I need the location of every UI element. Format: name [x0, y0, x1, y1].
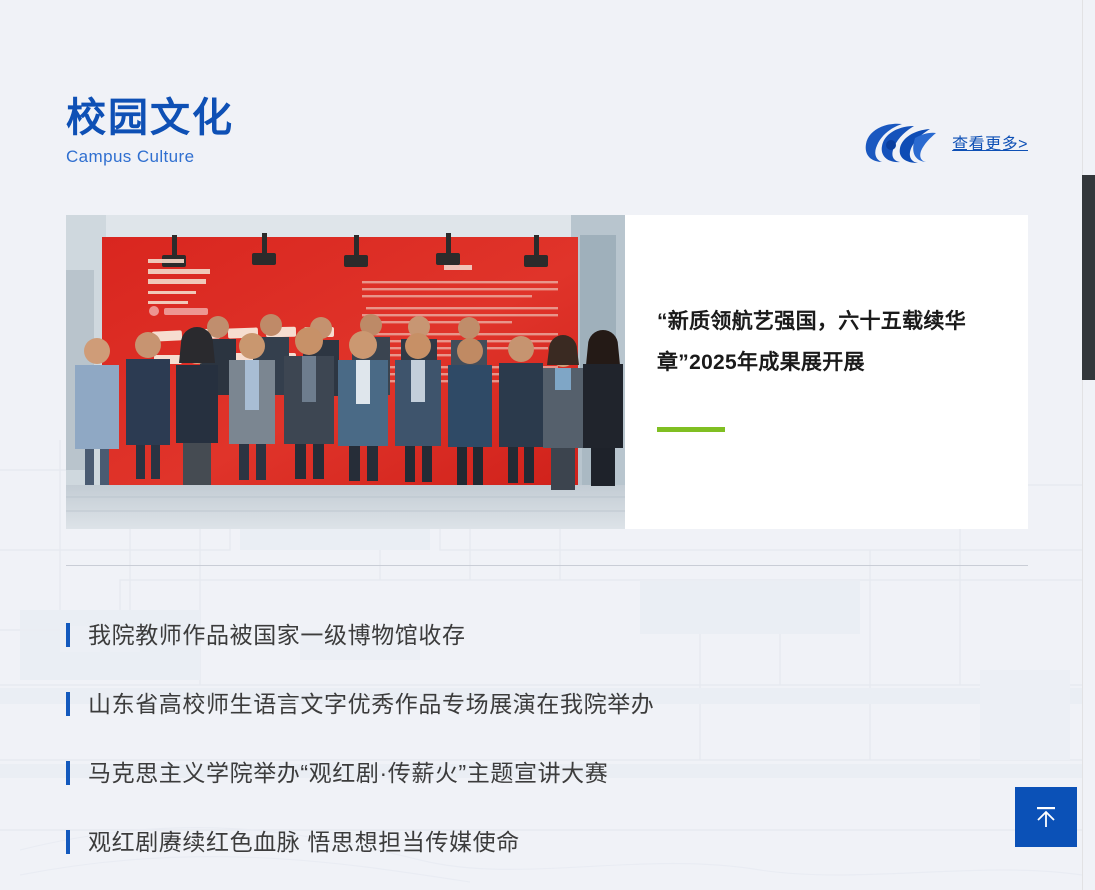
- section-header: 校园文化 Campus Culture 查看更多>: [66, 92, 1028, 172]
- swirl-logo-icon: [860, 120, 938, 164]
- view-more-link[interactable]: 查看更多>: [952, 130, 1028, 154]
- news-list: 我院教师作品被国家一级博物馆收存 山东省高校师生语言文字优秀作品专场展演在我院举…: [66, 600, 1028, 876]
- page-subtitle: Campus Culture: [66, 145, 234, 169]
- news-title: 山东省高校师生语言文字优秀作品专场展演在我院举办: [88, 689, 654, 719]
- bullet-bar-icon: [66, 692, 70, 716]
- featured-article-title: “新质领航艺强国，六十五载续华章”2025年成果展开展: [657, 301, 984, 383]
- bullet-bar-icon: [66, 623, 70, 647]
- page-title: 校园文化: [66, 92, 234, 144]
- news-title: 马克思主义学院举办“观红剧·传薪火”主题宣讲大赛: [88, 758, 608, 788]
- list-item[interactable]: 观红剧赓续红色血脉 悟思想担当传媒使命: [66, 807, 1028, 876]
- news-title: 观红剧赓续红色血脉 悟思想担当传媒使命: [88, 827, 520, 857]
- arrow-up-to-line-icon: [1031, 802, 1061, 832]
- scrollbar-thumb[interactable]: [1082, 175, 1095, 380]
- featured-article-card[interactable]: “新质领航艺强国，六十五载续华章”2025年成果展开展: [66, 215, 1028, 529]
- featured-article-image[interactable]: [66, 215, 625, 529]
- featured-accent-rule: [657, 427, 725, 432]
- list-item[interactable]: 山东省高校师生语言文字优秀作品专场展演在我院举办: [66, 669, 1028, 738]
- news-title: 我院教师作品被国家一级博物馆收存: [88, 620, 466, 650]
- featured-article-text: “新质领航艺强国，六十五载续华章”2025年成果展开展: [625, 215, 1028, 529]
- back-to-top-button[interactable]: [1015, 787, 1077, 847]
- header-right-group: 查看更多>: [860, 120, 1028, 164]
- campus-culture-page: 校园文化 Campus Culture 查看更多>: [0, 0, 1082, 890]
- list-item[interactable]: 我院教师作品被国家一级博物馆收存: [66, 600, 1028, 669]
- section-title-group: 校园文化 Campus Culture: [66, 92, 234, 169]
- bullet-bar-icon: [66, 830, 70, 854]
- scrollbar-track[interactable]: [1082, 0, 1095, 890]
- bullet-bar-icon: [66, 761, 70, 785]
- list-item[interactable]: 马克思主义学院举办“观红剧·传薪火”主题宣讲大赛: [66, 738, 1028, 807]
- section-divider: [66, 565, 1028, 566]
